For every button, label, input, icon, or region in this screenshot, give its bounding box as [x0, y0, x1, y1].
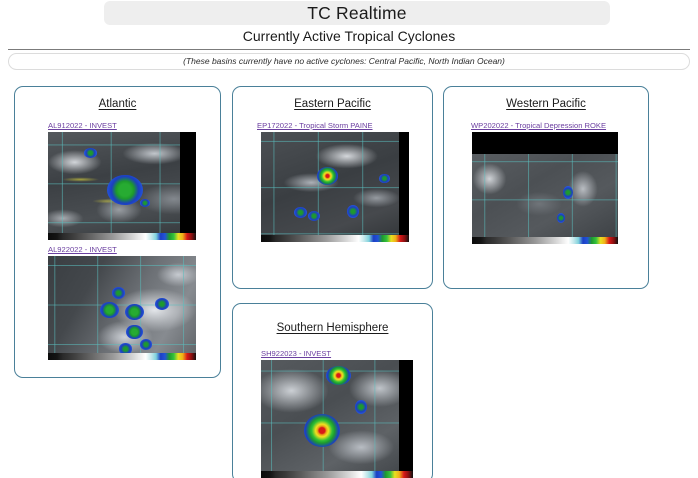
convective-cell: [294, 207, 307, 218]
image-black-margin: [472, 132, 618, 154]
convective-cell: [84, 148, 97, 158]
latlon-grid-overlay: [472, 154, 618, 237]
inactive-basins-note: (These basins currently have no active c…: [8, 54, 680, 69]
storm-link-ep172022[interactable]: EP172022 - Tropical Storm PAINE: [257, 121, 373, 130]
basin-title-atlantic: Atlantic: [15, 98, 220, 110]
basin-panel-atlantic: Atlantic AL912022 - INVEST AL922022 - IN…: [14, 86, 221, 378]
basin-panel-western-pacific: Western Pacific WP202022 - Tropical Depr…: [443, 86, 649, 289]
header-divider: [8, 49, 690, 50]
convective-cell: [140, 199, 150, 207]
storm-core-al912022: [107, 175, 143, 205]
basin-title-western-pacific: Western Pacific: [444, 98, 648, 110]
convective-cell: [379, 174, 389, 183]
convective-cell: [140, 339, 152, 349]
page-subtitle: Currently Active Tropical Cyclones: [0, 26, 698, 46]
latlon-grid-overlay: [261, 132, 409, 242]
storm-core-sh922023: [304, 414, 340, 447]
storm-link-al922022[interactable]: AL922022 - INVEST: [48, 245, 117, 254]
satellite-image-wp202022[interactable]: [472, 132, 618, 244]
satellite-image-al912022[interactable]: [48, 132, 196, 240]
storm-link-al912022[interactable]: AL912022 - INVEST: [48, 121, 117, 130]
ir-color-scale-bar: [48, 353, 196, 360]
convective-cell: [347, 205, 359, 218]
satellite-image-al922022[interactable]: [48, 256, 196, 360]
ir-color-scale-bar: [261, 471, 413, 478]
storm-core-wp202022: [563, 186, 573, 199]
satellite-image-ep172022[interactable]: [261, 132, 409, 242]
ir-color-scale-bar: [48, 233, 196, 240]
basin-panel-eastern-pacific: Eastern Pacific EP172022 - Tropical Stor…: [232, 86, 433, 289]
ir-color-scale-bar: [472, 237, 618, 244]
satellite-image-sh922023[interactable]: [261, 360, 413, 478]
storm-link-sh922023[interactable]: SH922023 - INVEST: [261, 349, 331, 358]
page-title: TC Realtime: [104, 2, 610, 24]
convective-cell: [326, 366, 350, 385]
image-black-margin: [180, 132, 196, 240]
image-black-margin: [399, 360, 413, 478]
basin-title-eastern-pacific: Eastern Pacific: [233, 98, 432, 110]
page-root: TC Realtime Currently Active Tropical Cy…: [0, 0, 698, 478]
ir-color-scale-bar: [261, 235, 409, 242]
image-black-margin: [399, 132, 409, 242]
convective-cell: [126, 325, 142, 340]
storm-core-ep172022: [317, 167, 338, 185]
convective-cell: [557, 213, 566, 223]
convective-cell: [112, 287, 125, 298]
basin-title-southern-hemisphere: Southern Hemisphere: [233, 322, 432, 334]
storm-link-wp202022[interactable]: WP202022 - Tropical Depression ROKE: [471, 121, 606, 130]
basin-panel-southern-hemisphere: Southern Hemisphere SH922023 - INVEST: [232, 303, 433, 478]
